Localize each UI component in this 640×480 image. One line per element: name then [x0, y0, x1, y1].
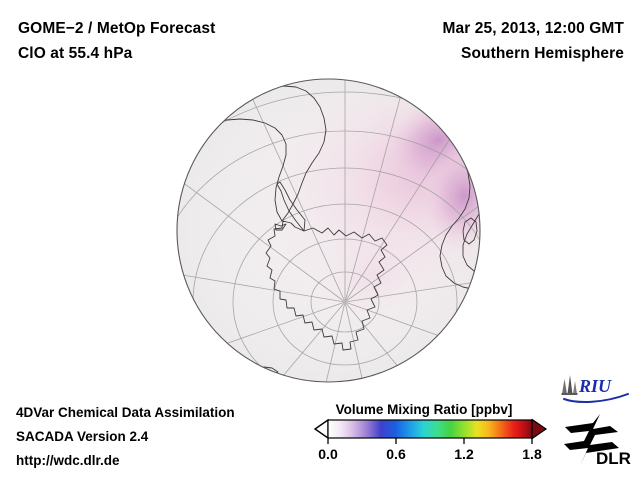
coastline-island-south [438, 374, 454, 381]
colorbar-ticks [328, 438, 532, 444]
footer-url[interactable]: http://wdc.dlr.de [16, 449, 235, 473]
colorbar-tick-labels: 0.0 0.6 1.2 1.8 [300, 446, 548, 466]
dlr-logo: DLR [562, 412, 636, 470]
coastline-island-southwest [398, 379, 415, 383]
header-meta-block: Mar 25, 2013, 12:00 GMT Southern Hemisph… [442, 16, 624, 66]
page-title: GOME−2 / MetOp Forecast [18, 16, 215, 41]
riu-logo: RIU [558, 372, 632, 404]
riu-bars-icon [562, 375, 578, 395]
south-pole-marker [343, 300, 348, 305]
header-title-block: GOME−2 / MetOp Forecast ClO at 55.4 hPa [18, 16, 215, 66]
colorbar-gradient-body [328, 420, 532, 438]
footer-credits: 4DVar Chemical Data Assimilation SACADA … [16, 401, 235, 473]
globe-disc [176, 78, 481, 383]
globe-map [176, 78, 481, 383]
footer-method: 4DVar Chemical Data Assimilation [16, 401, 235, 425]
orthographic-projection-svg [176, 78, 481, 383]
colorbar-tick-2: 1.2 [454, 446, 473, 462]
riu-wordmark: RIU [578, 376, 612, 396]
dlr-wordmark: DLR [596, 449, 631, 468]
sacada-forecast-figure: GOME−2 / MetOp Forecast ClO at 55.4 hPa … [0, 0, 640, 480]
colorbar-swatch-svg [300, 419, 548, 445]
colorbar-title: Volume Mixing Ratio [ppbv] [300, 402, 548, 417]
colorbar-over-arrow [532, 419, 546, 438]
footer-version: SACADA Version 2.4 [16, 425, 235, 449]
hemisphere-label: Southern Hemisphere [442, 41, 624, 66]
forecast-timestamp: Mar 25, 2013, 12:00 GMT [442, 16, 624, 41]
page-subtitle: ClO at 55.4 hPa [18, 41, 215, 66]
colorbar-tick-1: 0.6 [386, 446, 405, 462]
colorbar-under-arrow [315, 420, 328, 438]
colorbar-tick-0: 0.0 [318, 446, 337, 462]
colorbar: Volume Mixing Ratio [ppbv] 0.0 0.6 1.2 [300, 402, 548, 472]
colorbar-tick-3: 1.8 [522, 446, 541, 462]
